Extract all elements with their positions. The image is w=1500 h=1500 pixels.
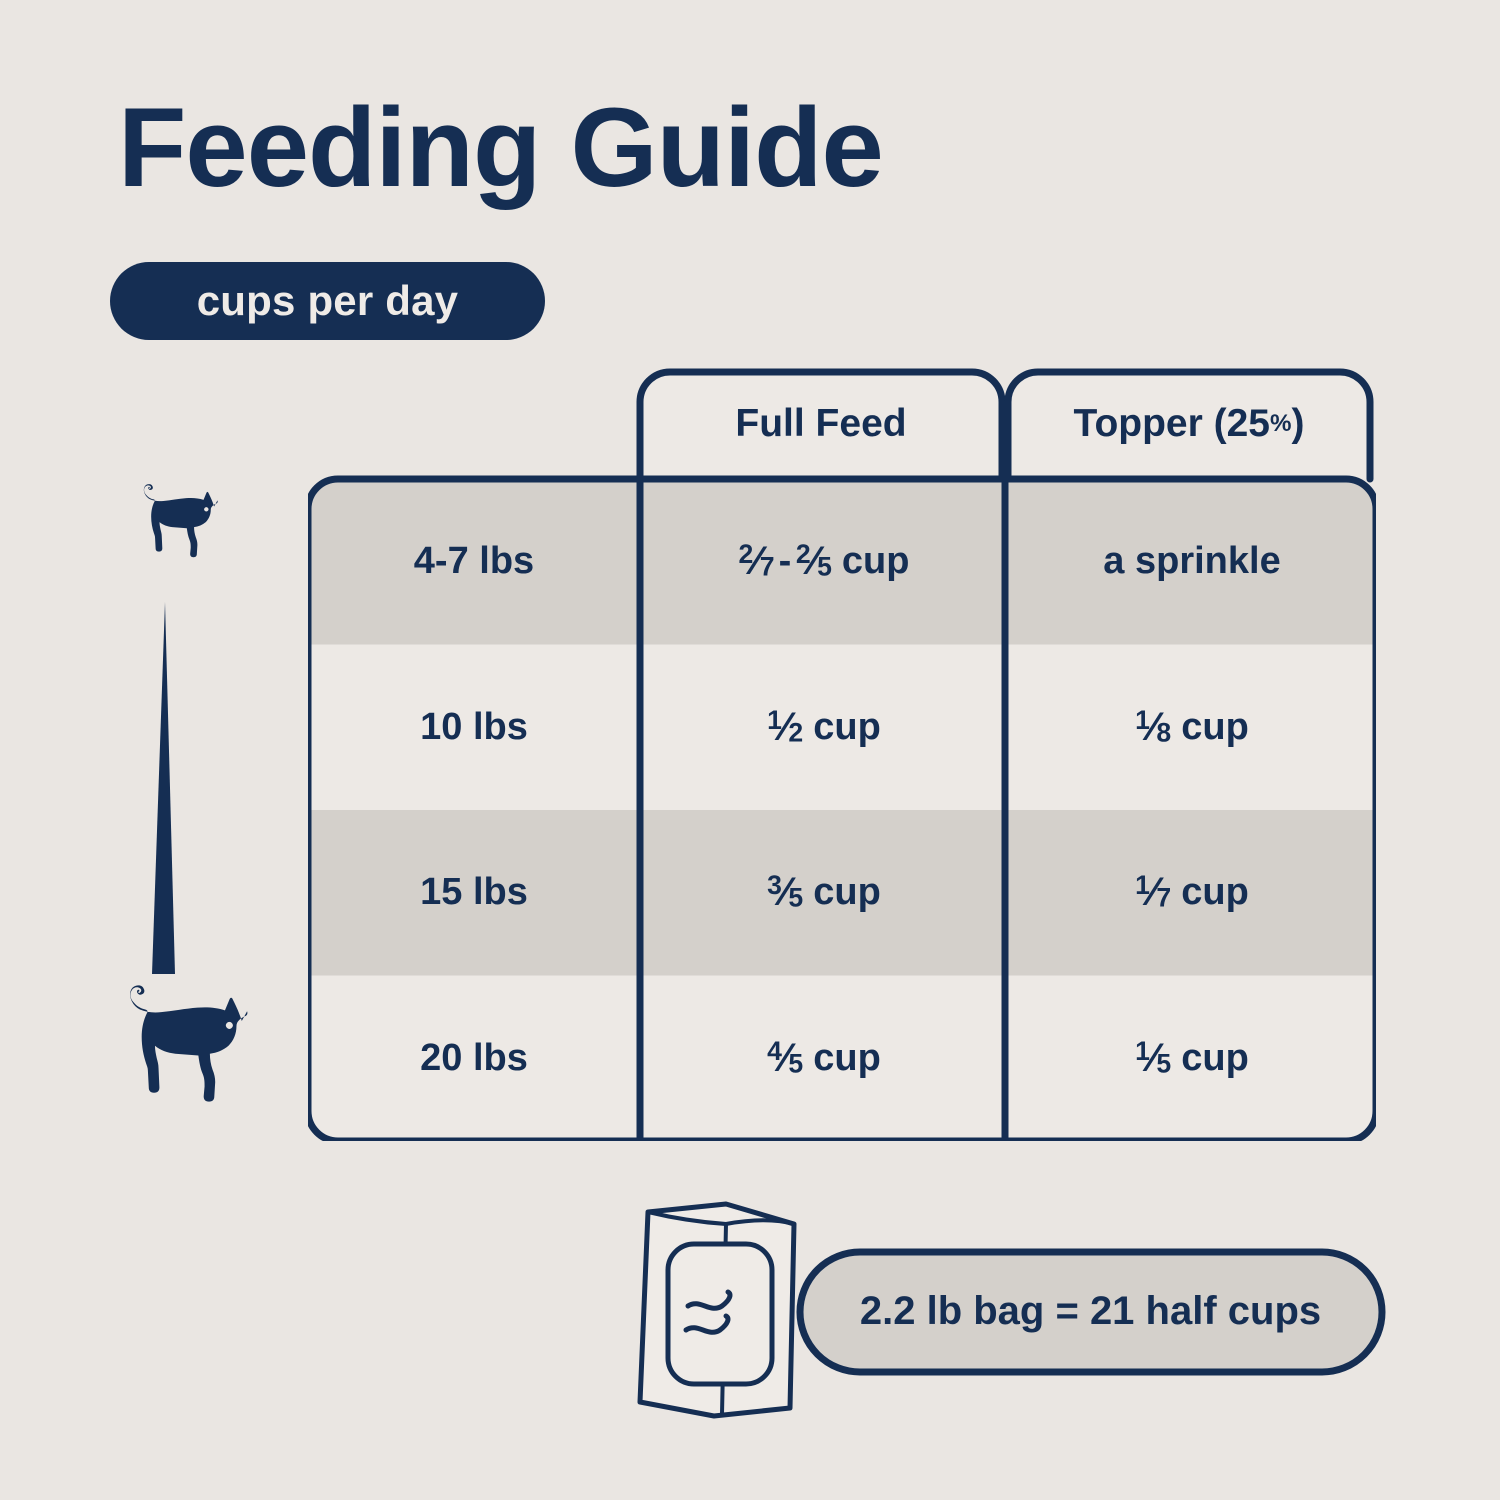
fraction-numerator: 1 (1135, 1036, 1149, 1066)
cell-weight: 20 lbs (308, 976, 640, 1142)
cell-topper: 1⁄5 cup (1008, 976, 1376, 1142)
fraction-denominator: 5 (1156, 1048, 1170, 1078)
cell-topper: 1⁄7 cup (1008, 810, 1376, 976)
column-header-topper-suffix: ) (1291, 402, 1304, 446)
cell-full-feed: 2⁄7-2⁄5 cup (640, 479, 1008, 645)
fraction-numerator: 1 (767, 705, 781, 735)
unit-label: cup (842, 540, 910, 583)
cat-size-scale (70, 470, 300, 1130)
fraction-glyph: 4⁄5 (767, 1036, 803, 1081)
table-row: 15 lbs 3⁄5 cup 1⁄7 cup (308, 810, 1376, 976)
fraction-numerator: 2 (796, 539, 810, 569)
table-row: 10 lbs 1⁄2 cup 1⁄8 cup (308, 645, 1376, 811)
fraction-glyph: 2⁄5 (796, 539, 832, 584)
cat-walking-icon-small (118, 482, 230, 560)
infographic-canvas: Feeding Guide cups per day (0, 0, 1500, 1500)
fraction-denominator: 2 (788, 717, 802, 747)
size-gradient-wedge-icon (148, 602, 182, 974)
fraction-glyph: 2⁄7 (739, 539, 775, 584)
fraction-denominator: 7 (760, 552, 774, 582)
fraction-glyph: 1⁄5 (1135, 1036, 1171, 1081)
fraction-glyph: 3⁄5 (767, 870, 803, 915)
bag-yield-banner: 2.2 lb bag = 21 half cups (618, 1196, 1386, 1428)
cell-full-feed: 3⁄5 cup (640, 810, 1008, 976)
cups-per-day-badge: cups per day (110, 262, 545, 340)
cell-full-feed: 4⁄5 cup (640, 976, 1008, 1142)
fraction-numerator: 1 (1135, 705, 1149, 735)
fraction-bar: ⁄ (753, 539, 760, 583)
table-header-row: Full Feed Topper (25%) (308, 366, 1376, 476)
fraction-denominator: 8 (1156, 717, 1170, 747)
unit-label: cup (813, 1037, 881, 1080)
fraction-denominator: 7 (1156, 883, 1170, 913)
badge-label: cups per day (197, 277, 459, 325)
fraction-numerator: 4 (767, 1036, 781, 1066)
unit-label: cup (1181, 706, 1249, 749)
cell-weight: 10 lbs (308, 645, 640, 811)
fraction-glyph: 1⁄7 (1135, 870, 1171, 915)
unit-label: cup (813, 871, 881, 914)
table-row: 4-7 lbs 2⁄7-2⁄5 cup a sprinkle (308, 479, 1376, 645)
range-dash: - (774, 540, 796, 583)
column-header-topper: Topper (25%) (1008, 394, 1370, 454)
cell-topper: 1⁄8 cup (1008, 645, 1376, 811)
table-row: 20 lbs 4⁄5 cup 1⁄5 cup (308, 976, 1376, 1142)
fraction-denominator: 5 (788, 883, 802, 913)
cat-walking-icon-large (88, 982, 268, 1106)
unit-label: cup (813, 706, 881, 749)
fraction-glyph: 1⁄8 (1135, 705, 1171, 750)
page-title: Feeding Guide (118, 92, 883, 204)
fraction-denominator: 5 (788, 1048, 802, 1078)
column-header-topper-prefix: Topper (25 (1074, 402, 1270, 446)
cell-weight: 15 lbs (308, 810, 640, 976)
fraction-numerator: 1 (1135, 870, 1149, 900)
fraction-denominator: 5 (817, 552, 831, 582)
feeding-table: Full Feed Topper (25%) 4-7 lbs 2⁄7-2⁄5 c… (308, 366, 1376, 1141)
fraction-numerator: 2 (739, 539, 753, 569)
fraction-numerator: 3 (767, 870, 781, 900)
unit-label: cup (1181, 1037, 1249, 1080)
cell-full-feed: 1⁄2 cup (640, 645, 1008, 811)
table-body: 4-7 lbs 2⁄7-2⁄5 cup a sprinkle 10 lbs 1⁄… (308, 479, 1376, 1141)
cell-topper: a sprinkle (1008, 479, 1376, 645)
pet-food-bag-icon (640, 1204, 794, 1416)
column-header-full-feed: Full Feed (640, 394, 1002, 454)
bag-yield-label: 2.2 lb bag = 21 half cups (818, 1266, 1363, 1356)
unit-label: cup (1181, 871, 1249, 914)
fraction-glyph: 1⁄2 (767, 705, 803, 750)
cell-weight: 4-7 lbs (308, 479, 640, 645)
